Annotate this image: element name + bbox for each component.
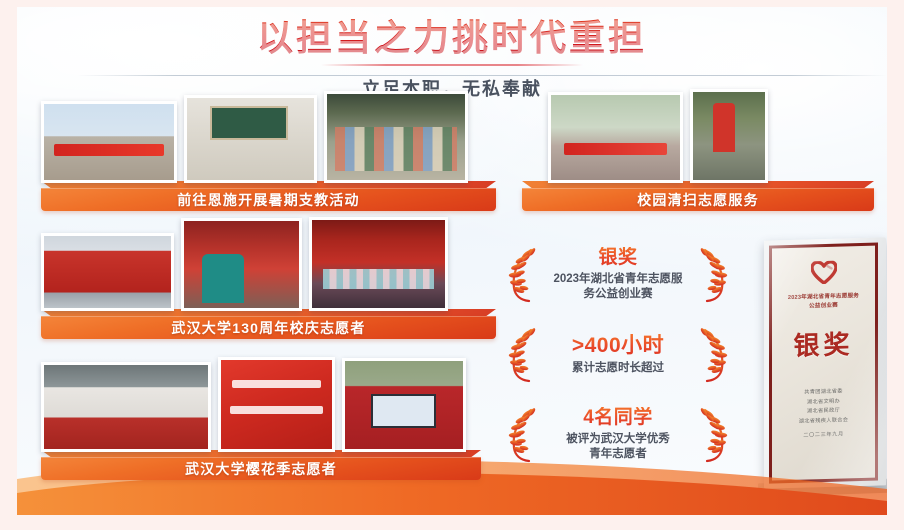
photo-thumbnail[interactable] (342, 358, 466, 452)
plaque-organizations: 共青团湖北省委 湖北省文明办 湖北省民政厅 湖北省残疾人联合会 (799, 387, 848, 427)
photo-group-enshi-teaching[interactable]: 前往恩施开展暑期支教活动 (41, 93, 496, 211)
photo-strip (41, 217, 448, 311)
photo-group-caption: 武汉大学130周年校庆志愿者 (171, 318, 365, 338)
achievement-item-service-hours: >400小时 累计志愿时长超过 (507, 315, 729, 395)
photo-thumbnail[interactable] (324, 91, 468, 183)
plaque-competition-name: 2023年湖北省青年志愿服务 公益创业赛 (788, 292, 859, 312)
plaque-prize-text: 银奖 (793, 324, 853, 363)
caption-pedestal: 前往恩施开展暑期支教活动 (41, 181, 496, 211)
plaque-date: 二〇二三年九月 (803, 431, 844, 439)
title-underline (321, 64, 583, 66)
achievement-text: >400小时 累计志愿时长超过 (539, 334, 697, 377)
photo-thumbnail[interactable] (218, 357, 335, 452)
photo-thumbnail[interactable] (184, 95, 317, 183)
photo-thumbnail[interactable] (690, 89, 768, 183)
plaque-org-line1: 共青团湖北省委 (804, 388, 842, 395)
plaque-competition-line2: 公益创业赛 (809, 303, 838, 310)
achievement-headline: 银奖 (539, 247, 697, 269)
slide-canvas: 以担当之力挑时代重担 立足本职，无私奉献 前往恩施开展暑期支教活动 校园清扫志愿… (17, 7, 887, 515)
laurel-wreath-icon (699, 246, 729, 304)
caption-pedestal: 武汉大学130周年校庆志愿者 (41, 309, 496, 339)
photo-thumbnail[interactable] (41, 101, 177, 183)
photo-group-whu-130-anniversary[interactable]: 武汉大学130周年校庆志愿者 (41, 223, 496, 339)
achievement-text: 银奖 2023年湖北省青年志愿服 务公益创业赛 (539, 247, 697, 303)
pedestal-face: 武汉大学樱花季志愿者 (41, 457, 481, 480)
laurel-wreath-icon (507, 326, 537, 384)
heart-icon (811, 261, 837, 285)
achievement-detail-line1: 累计志愿时长超过 (572, 362, 664, 374)
plaque-competition-line1: 2023年湖北省青年志愿服务 (788, 293, 859, 301)
achievement-headline: >400小时 (539, 334, 697, 358)
achievement-detail: 2023年湖北省青年志愿服 务公益创业赛 (539, 272, 697, 303)
photo-group-caption: 武汉大学樱花季志愿者 (185, 459, 337, 479)
plaque-org-line4: 湖北省残疾人联合会 (799, 417, 848, 424)
photo-group-campus-cleaning[interactable]: 校园清扫志愿服务 (522, 93, 874, 211)
achievement-detail-line1: 2023年湖北省青年志愿服 (553, 273, 682, 285)
plaque-org-line2: 湖北省文明办 (807, 398, 840, 405)
pedestal-face: 武汉大学130周年校庆志愿者 (41, 316, 496, 339)
photo-group-whu-cherry-blossom[interactable]: 武汉大学樱花季志愿者 (41, 355, 481, 480)
photo-thumbnail[interactable] (548, 92, 683, 183)
achievement-headline: 4名同学 (539, 407, 697, 429)
achievement-item-silver-award: 银奖 2023年湖北省青年志愿服 务公益创业赛 (507, 235, 729, 315)
photo-group-caption: 前往恩施开展暑期支教活动 (177, 190, 359, 210)
achievement-detail-line1: 被评为武汉大学优秀 (566, 433, 670, 445)
achievement-detail-line2: 务公益创业赛 (584, 288, 653, 300)
laurel-wreath-icon (699, 326, 729, 384)
photo-strip (548, 89, 768, 183)
caption-pedestal: 校园清扫志愿服务 (522, 181, 874, 211)
photo-strip (41, 357, 466, 452)
achievement-detail: 累计志愿时长超过 (539, 361, 697, 377)
plaque-card: 2023年湖北省青年志愿服务 公益创业赛 银奖 共青团湖北省委 湖北省文明办 湖… (769, 243, 878, 484)
plaque-org-line3: 湖北省民政厅 (807, 408, 840, 415)
pedestal-face: 校园清扫志愿服务 (522, 188, 874, 211)
photo-group-caption: 校园清扫志愿服务 (637, 190, 759, 210)
photo-thumbnail[interactable] (41, 233, 174, 311)
photo-thumbnail[interactable] (181, 218, 302, 311)
pedestal-face: 前往恩施开展暑期支教活动 (41, 188, 496, 211)
photo-thumbnail[interactable] (41, 362, 211, 452)
achievements-list: 银奖 2023年湖北省青年志愿服 务公益创业赛 (507, 235, 729, 475)
page-title: 以担当之力挑时代重担 (257, 19, 647, 59)
laurel-wreath-icon (507, 246, 537, 304)
caption-pedestal: 武汉大学樱花季志愿者 (41, 450, 481, 480)
photo-strip (41, 91, 468, 183)
photo-thumbnail[interactable] (309, 217, 448, 311)
